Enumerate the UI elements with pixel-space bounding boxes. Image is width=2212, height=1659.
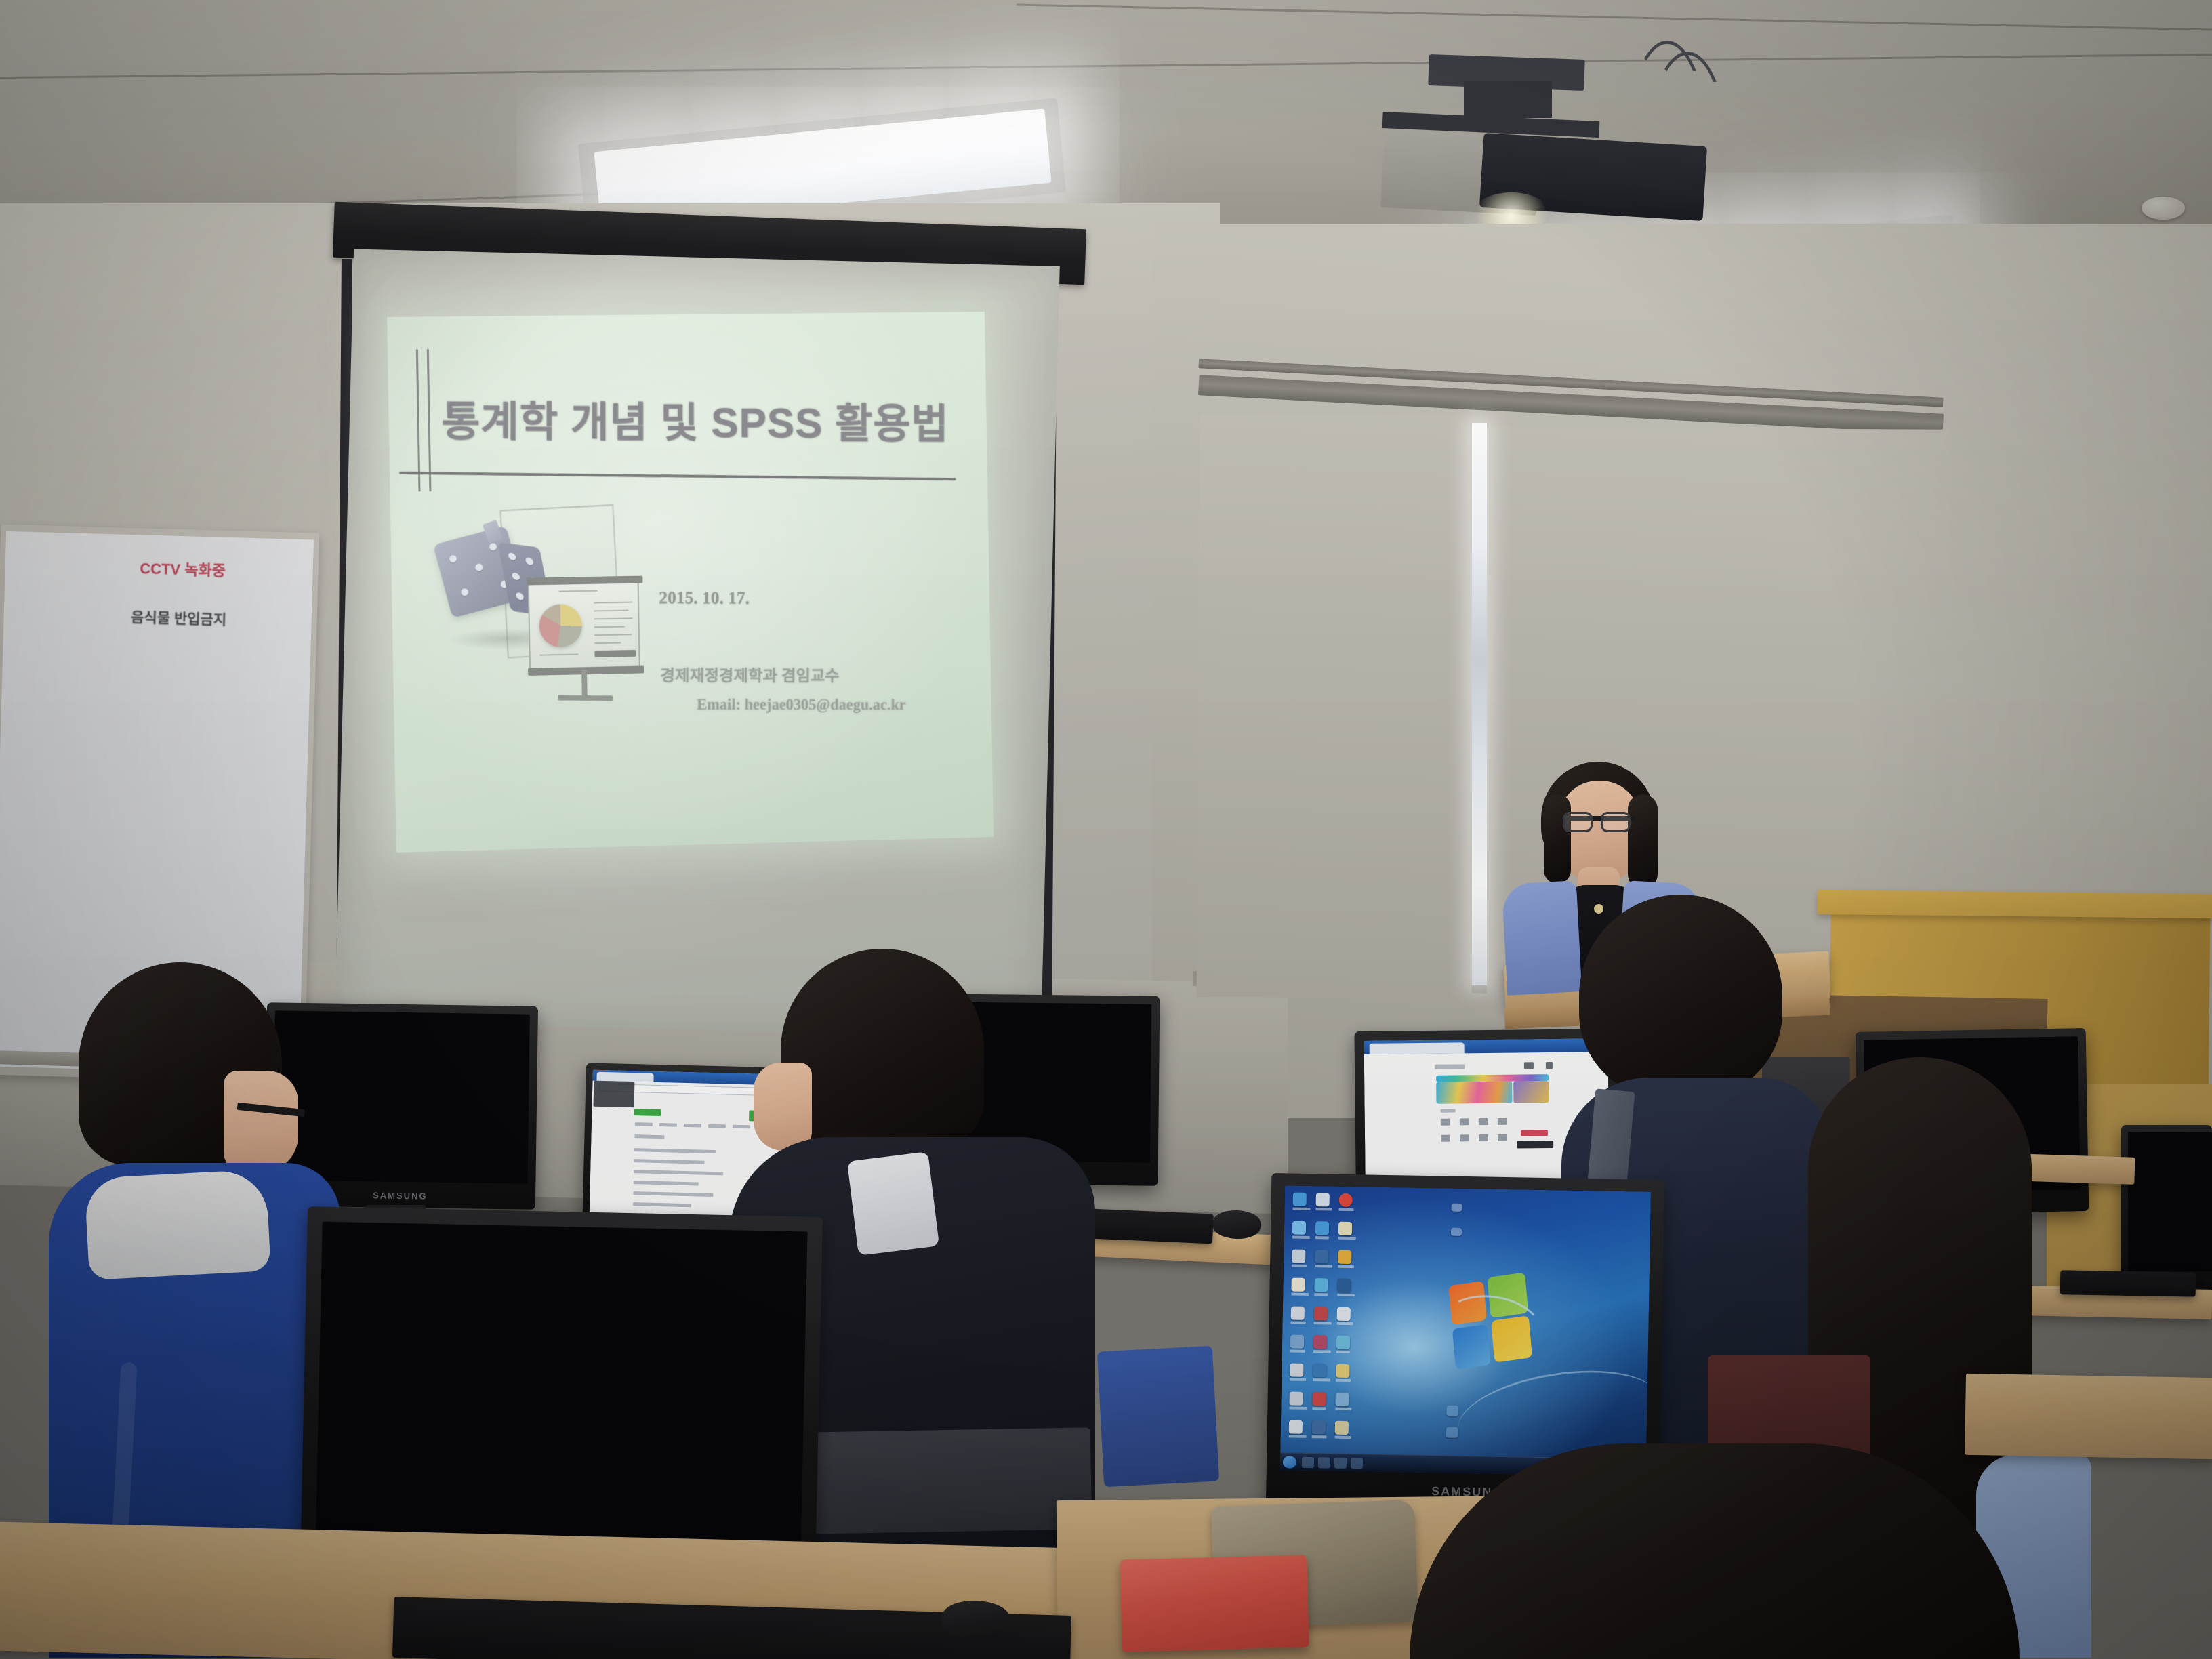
- slide-email: Email: heejae0305@daegu.ac.kr: [697, 696, 906, 714]
- clipart-pie-chart: [539, 604, 582, 648]
- presenter-hair-side: [1628, 794, 1658, 889]
- windows-desktop[interactable]: [1280, 1185, 1651, 1476]
- smoke-detector: [2142, 197, 2185, 220]
- presenter-eyeglasses: [1563, 812, 1593, 832]
- classroom-photo: 통계학 개념 및 SPSS 활용법: [0, 0, 2212, 1659]
- student-shirt-collar: [847, 1151, 939, 1256]
- mouse: [1212, 1210, 1261, 1240]
- slide-decoration-rule: [416, 350, 421, 492]
- slide-decoration-rule: [427, 349, 432, 491]
- windows-logo-icon: [1448, 1272, 1537, 1378]
- student-foreground: [1410, 1443, 2020, 1659]
- vertical-blind-panel: [1197, 414, 1475, 998]
- slide-title-underline: [399, 472, 956, 480]
- desktop-icon-grid[interactable]: [1288, 1193, 1359, 1448]
- window-light-gap: [1472, 423, 1487, 985]
- monitor: [2121, 1125, 2212, 1294]
- slide-clipart: [423, 500, 648, 707]
- projector-mount-arm: [1464, 81, 1552, 118]
- student-face: [224, 1071, 298, 1172]
- chair: [1097, 1346, 1219, 1488]
- start-button[interactable]: [1283, 1456, 1296, 1468]
- monitor-screen: [1280, 1185, 1651, 1476]
- clipart-board-foot: [558, 695, 613, 701]
- whiteboard-notice-red: CCTV 녹화중: [115, 556, 251, 581]
- student-face: [754, 1063, 812, 1151]
- lectern-top: [1818, 890, 2212, 918]
- presenter-eyeglasses: [1601, 812, 1631, 832]
- presenter-hair-side: [1544, 794, 1571, 884]
- presentation-slide: 통계학 개념 및 SPSS 활용법: [387, 312, 994, 853]
- chair: [806, 1427, 1092, 1534]
- clipart-chart-board: [528, 580, 640, 671]
- student-hair: [1410, 1443, 2020, 1659]
- monitor-brand: SAMSUNG: [373, 1190, 428, 1201]
- red-pencil-case: [1120, 1555, 1309, 1652]
- slide-title: 통계학 개념 및 SPSS 활용법: [441, 387, 949, 450]
- student-hair: [1579, 895, 1782, 1098]
- whiteboard-notice-dark: 음식물 반입금지: [104, 606, 253, 630]
- student-hood: [84, 1169, 270, 1280]
- slide-author: 경제재정경제학과 겸임교수: [660, 662, 840, 686]
- slide-date: 2015. 10. 17.: [659, 588, 750, 608]
